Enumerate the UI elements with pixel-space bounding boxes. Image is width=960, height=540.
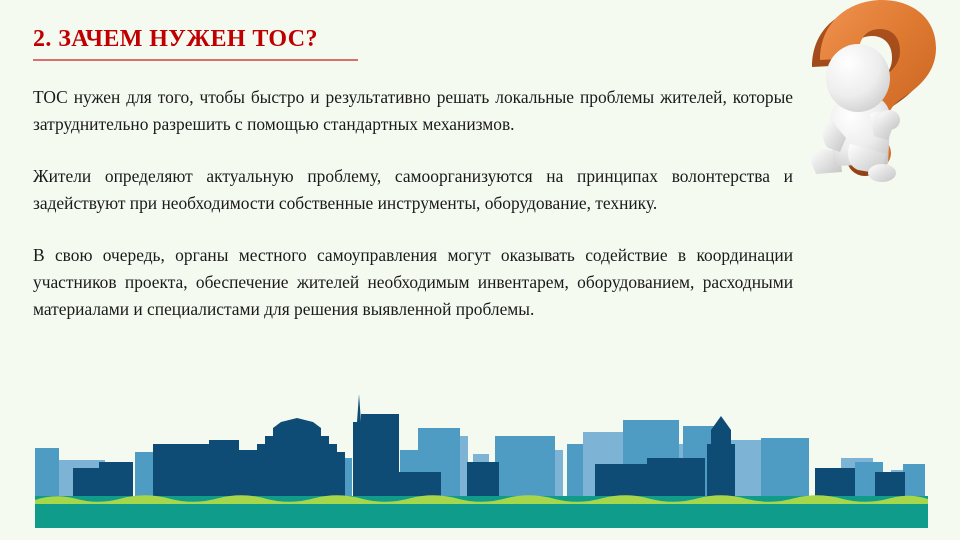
page-title: 2. ЗАЧЕМ НУЖЕН ТОС?	[33, 26, 453, 52]
city-skyline-icon	[35, 392, 928, 532]
title-block: 2. ЗАЧЕМ НУЖЕН ТОС?	[33, 26, 453, 61]
title-underline-rule	[33, 59, 358, 61]
paragraph-2: Жители определяют актуальную проблему, с…	[33, 163, 793, 217]
paragraph-3: В свою очередь, органы местного самоупра…	[33, 242, 793, 323]
body-text-block: ТОС нужен для того, чтобы быстро и резул…	[33, 84, 793, 323]
paragraph-1: ТОС нужен для того, чтобы быстро и резул…	[33, 84, 793, 138]
slide-canvas: 2. ЗАЧЕМ НУЖЕН ТОС? ТОС нужен для того, …	[0, 0, 960, 540]
question-mark-thinker-icon	[796, 0, 960, 186]
